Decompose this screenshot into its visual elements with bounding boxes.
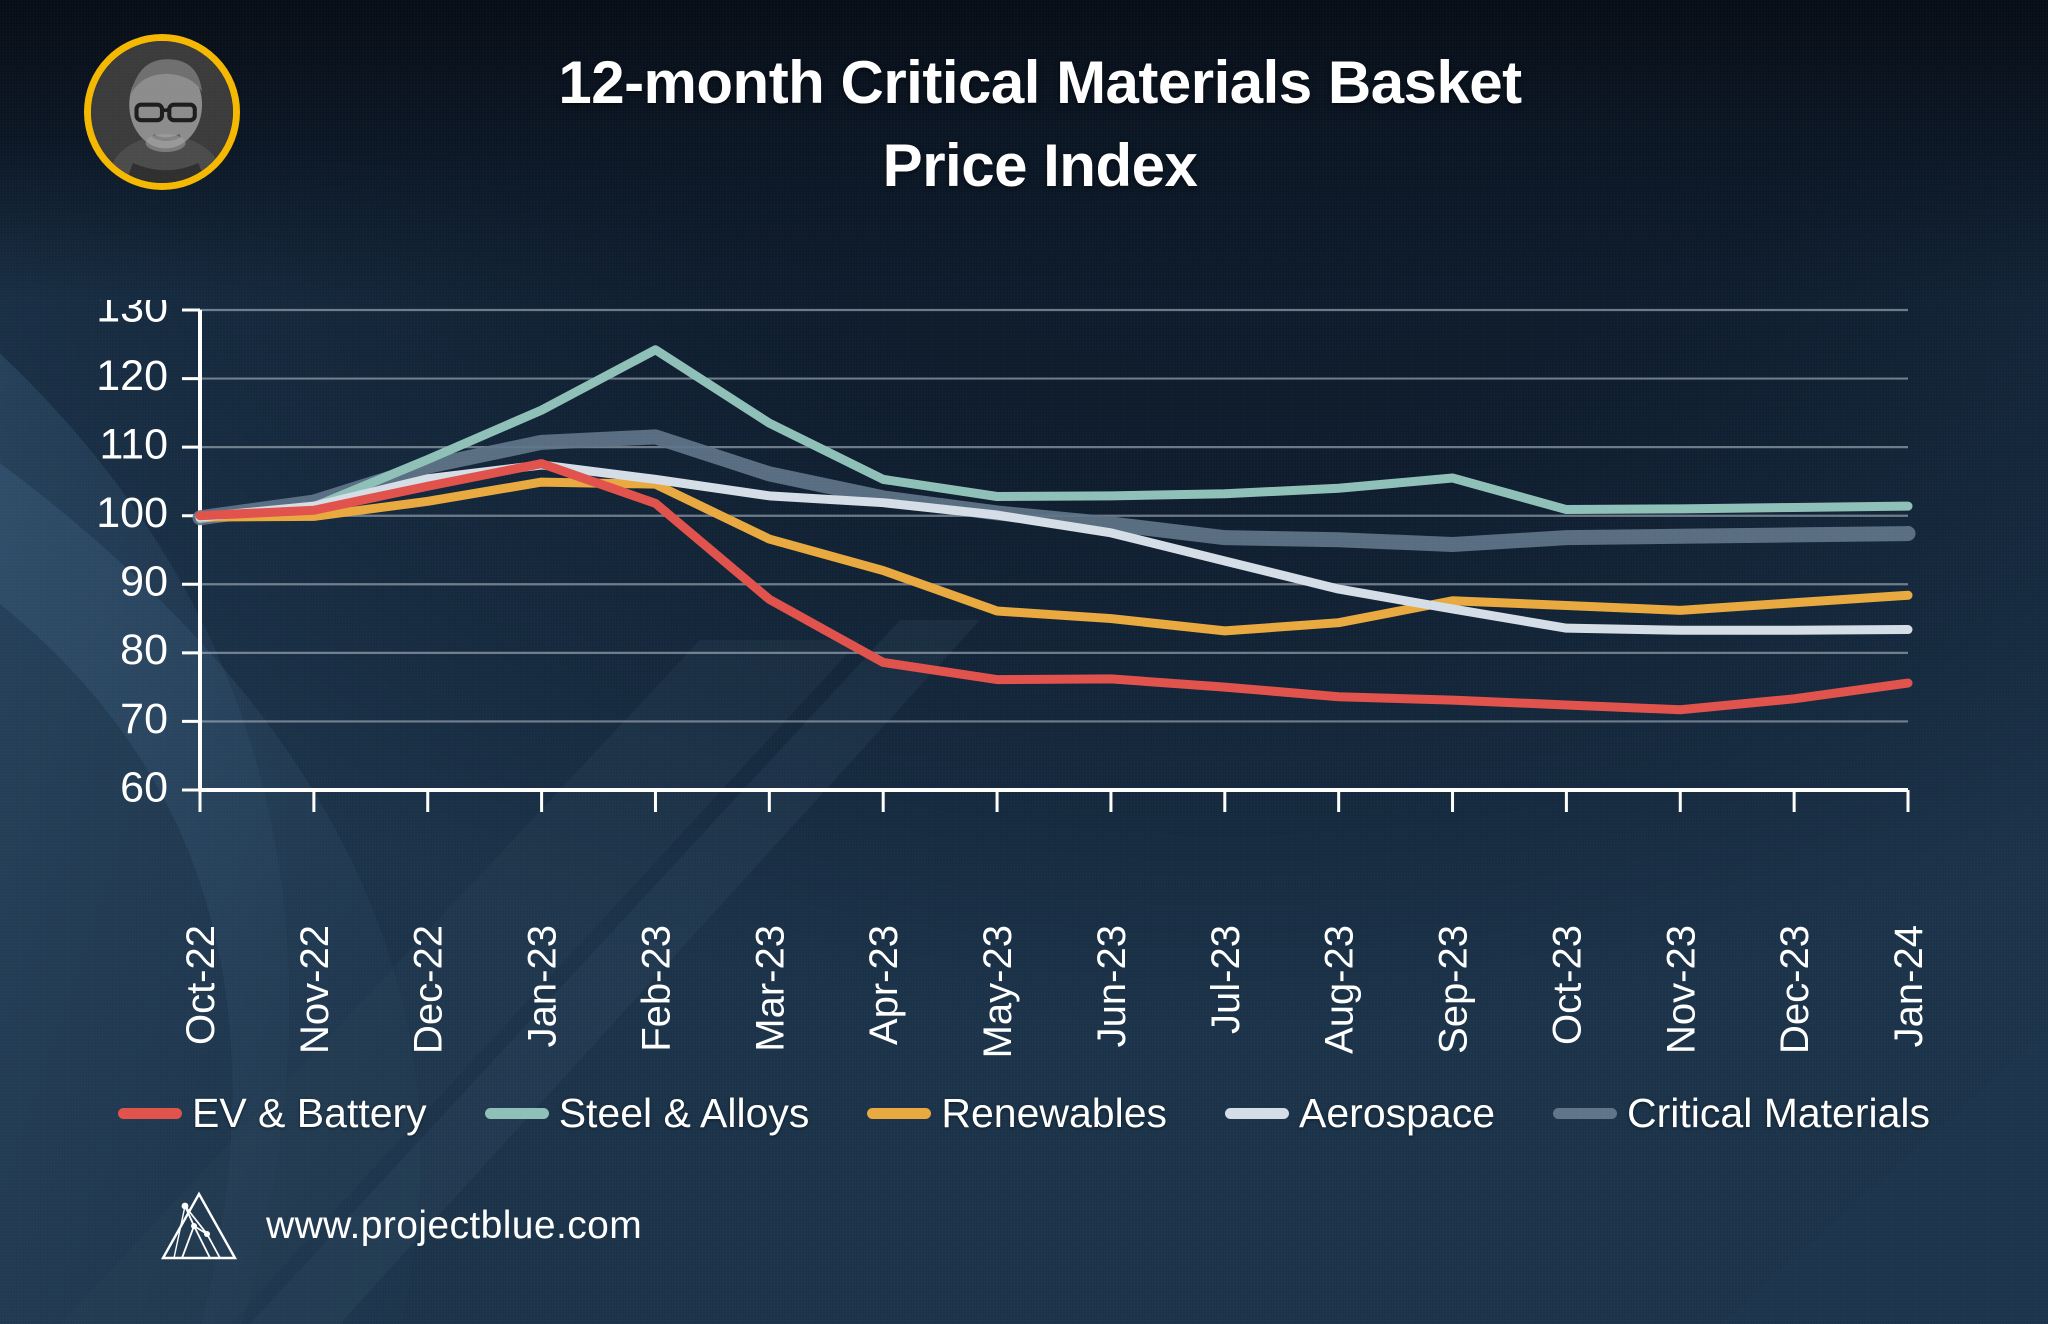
x-tick-label: Oct-22 [179, 925, 223, 1045]
legend-label: Renewables [941, 1090, 1167, 1137]
x-tick-label: Jul-23 [1204, 925, 1248, 1034]
legend-label: Aerospace [1299, 1090, 1495, 1137]
chart-legend: EV & BatterySteel & AlloysRenewablesAero… [0, 1090, 2048, 1137]
page-title-line-1: 12-month Critical Materials Basket [300, 42, 1780, 125]
legend-swatch-icon [867, 1108, 931, 1119]
x-tick-label: Dec-22 [407, 925, 451, 1054]
avatar [84, 34, 240, 190]
x-tick-label: Nov-23 [1659, 925, 1703, 1054]
chart-x-axis [200, 790, 1908, 812]
legend-item-aerospace[interactable]: Aerospace [1225, 1090, 1495, 1137]
x-tick-label: Nov-22 [293, 925, 337, 1054]
y-tick-label: 60 [120, 763, 168, 811]
legend-label: Critical Materials [1627, 1090, 1930, 1137]
x-tick-label: Jun-23 [1090, 925, 1134, 1047]
y-tick-label: 80 [120, 626, 168, 674]
x-tick-label: May-23 [976, 925, 1020, 1058]
footer-url: www.projectblue.com [266, 1204, 642, 1248]
y-tick-label: 120 [96, 352, 168, 400]
y-tick-label: 130 [96, 300, 168, 331]
slide-root: 12-month Critical Materials Basket Price… [0, 0, 2048, 1324]
series-line-renewables [200, 482, 1908, 631]
chart-canvas: 60708090100110120130 [0, 300, 2048, 940]
legend-item-ev-battery[interactable]: EV & Battery [118, 1090, 427, 1137]
line-chart: 60708090100110120130 [0, 300, 2048, 940]
chart-x-tick-labels: Oct-22Nov-22Dec-22Jan-23Feb-23Mar-23Apr-… [0, 915, 2048, 1105]
legend-item-steel-alloys[interactable]: Steel & Alloys [485, 1090, 810, 1137]
x-tick-label: Oct-23 [1545, 925, 1589, 1045]
x-tick-label: Aug-23 [1318, 925, 1362, 1054]
x-tick-label: Sep-23 [1432, 925, 1476, 1054]
chart-y-axis: 60708090100110120130 [96, 300, 200, 811]
x-tick-label: Jan-23 [521, 925, 565, 1047]
legend-label: EV & Battery [192, 1090, 427, 1137]
legend-swatch-icon [1225, 1108, 1289, 1119]
x-tick-label: Apr-23 [862, 925, 906, 1045]
x-tick-label: Dec-23 [1773, 925, 1817, 1054]
y-tick-label: 100 [96, 489, 168, 537]
footer: www.projectblue.com [160, 1190, 642, 1262]
legend-item-renewables[interactable]: Renewables [867, 1090, 1167, 1137]
y-tick-label: 90 [120, 558, 168, 606]
legend-swatch-icon [1553, 1108, 1617, 1119]
legend-label: Steel & Alloys [559, 1090, 810, 1137]
avatar-portrait-icon [91, 41, 233, 183]
y-tick-label: 110 [99, 421, 168, 469]
page-title-line-2: Price Index [300, 125, 1780, 208]
legend-swatch-icon [485, 1108, 549, 1119]
legend-swatch-icon [118, 1108, 182, 1119]
legend-item-critical-materials[interactable]: Critical Materials [1553, 1090, 1930, 1137]
page-title: 12-month Critical Materials Basket Price… [300, 42, 1780, 208]
chart-gridlines [200, 310, 1908, 790]
project-blue-triangle-logo-icon [160, 1190, 238, 1262]
y-tick-label: 70 [120, 695, 168, 743]
x-tick-label: Jan-24 [1887, 925, 1931, 1047]
chart-series-group [200, 350, 1908, 710]
x-tick-label: Mar-23 [748, 925, 792, 1052]
x-tick-label: Feb-23 [634, 925, 678, 1052]
